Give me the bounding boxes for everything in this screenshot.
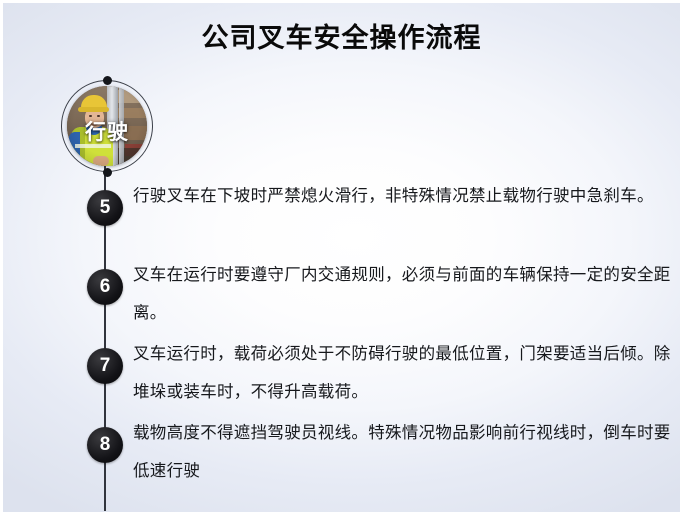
step-description: 载物高度不得遮挡驾驶员视线。特殊情况物品影响前行视线时，倒车时要低速行驶: [133, 414, 673, 490]
step-description: 行驶叉车在下坡时严禁熄火滑行，非特殊情况禁止载物行驶中急刹车。: [133, 177, 673, 215]
page-title: 公司叉车安全操作流程: [0, 21, 683, 55]
slide-canvas: 公司叉车安全操作流程 行驶: [0, 0, 683, 515]
step-number-badge: 7: [87, 348, 123, 384]
section-photo-node[interactable]: 行驶: [59, 75, 155, 181]
step-number-badge: 8: [87, 427, 123, 463]
step-number-badge: 6: [87, 269, 123, 305]
step-description: 叉车运行时，载荷必须处于不防碍行驶的最低位置，门架要适当后倾。除堆垛或装车时，不…: [133, 335, 673, 411]
forklift-operator-photo: 行驶: [67, 86, 147, 166]
step-description: 叉车在运行时要遵守厂内交通规则，必须与前面的车辆保持一定的安全距离。: [133, 256, 673, 332]
section-label: 行驶: [67, 116, 147, 146]
ring-dot-top-icon: [103, 76, 112, 85]
ring-dot-bottom-icon: [103, 168, 112, 177]
step-number-badge: 5: [87, 190, 123, 226]
